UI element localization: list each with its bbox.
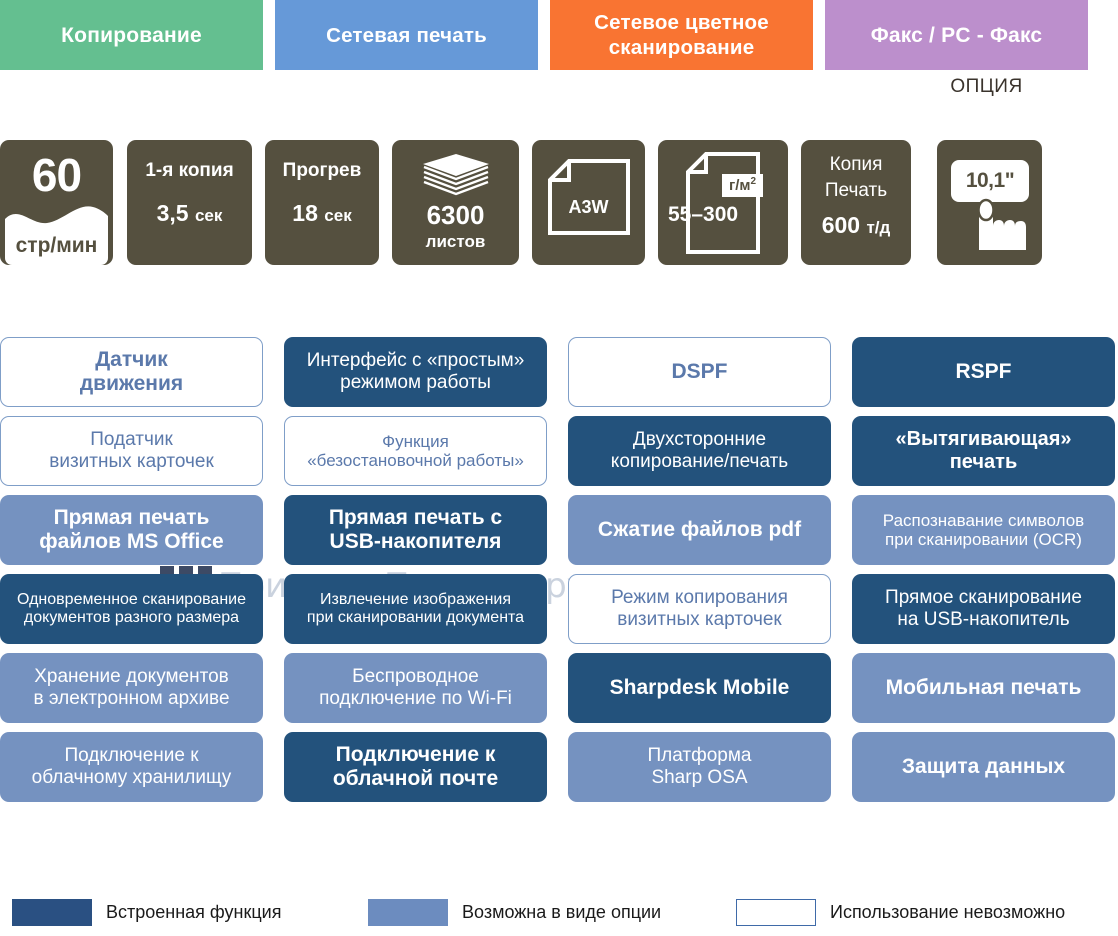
duty-number: 600 bbox=[822, 212, 860, 238]
warmup-value: 18 сек bbox=[265, 200, 379, 227]
feature-cell-label: Функция «безостановочной работы» bbox=[307, 432, 524, 471]
feature-cell[interactable]: Извлечение изображения при сканировании … bbox=[284, 574, 547, 644]
feature-cell-label: Распознавание символов при сканировании … bbox=[883, 511, 1084, 550]
feature-cell-label: RSPF bbox=[955, 360, 1011, 384]
feature-cell[interactable]: Платформа Sharp OSA bbox=[568, 732, 831, 802]
feature-cell[interactable]: Режим копирования визитных карточек bbox=[568, 574, 831, 644]
feature-cell-label: Датчик движения bbox=[80, 348, 183, 396]
feature-cell[interactable]: Защита данных bbox=[852, 732, 1115, 802]
feature-cell[interactable]: Одновременное сканирование документов ра… bbox=[0, 574, 263, 644]
feature-cell[interactable]: Прямая печать с USB-накопителя bbox=[284, 495, 547, 565]
feature-cell[interactable]: Податчик визитных карточек bbox=[0, 416, 263, 486]
speed-value: 60 bbox=[0, 148, 113, 202]
option-note: ОПЦИЯ bbox=[855, 76, 1118, 98]
paper-stack-icon bbox=[419, 152, 493, 203]
spec-tile-duty-cycle: Копия Печать 600 т/д bbox=[801, 140, 911, 265]
feature-cell[interactable]: Прямая печать файлов MS Office bbox=[0, 495, 263, 565]
feature-cell-label: Одновременное сканирование документов ра… bbox=[17, 591, 246, 627]
legend: Встроенная функция Возможна в виде опции… bbox=[0, 899, 1118, 933]
feature-cell[interactable]: Подключение к облачному хранилищу bbox=[0, 732, 263, 802]
header-copying: Копирование bbox=[0, 0, 263, 70]
spec-tile-speed: 60 стр/мин bbox=[0, 140, 113, 265]
header-network-print-label: Сетевая печать bbox=[326, 23, 487, 48]
legend-item-unavailable: Использование невозможно bbox=[736, 899, 1065, 926]
first-copy-unit: сек bbox=[195, 206, 222, 225]
feature-cell-label: Мобильная печать bbox=[886, 676, 1082, 700]
feature-cell-label: Платформа Sharp OSA bbox=[648, 745, 752, 788]
spec-tile-warmup: Прогрев 18 сек bbox=[265, 140, 379, 265]
paper-wave-icon: стр/мин bbox=[5, 203, 108, 265]
max-paper-value: A3W bbox=[532, 197, 645, 218]
feature-cell-label: Сжатие файлов pdf bbox=[598, 518, 801, 542]
feature-cell[interactable]: Хранение документов в электронном архиве bbox=[0, 653, 263, 723]
header-network-print: Сетевая печать bbox=[275, 0, 538, 70]
feature-cell-label: Прямое сканирование на USB-накопитель bbox=[885, 587, 1082, 630]
feature-cell[interactable]: «Вытягивающая» печать bbox=[852, 416, 1115, 486]
first-copy-title: 1-я копия bbox=[127, 160, 252, 182]
feature-cell-label: Интерфейс с «простым» режимом работы bbox=[307, 350, 525, 393]
header-fax: Факс / PC - Факс bbox=[825, 0, 1088, 70]
duty-line1: Копия bbox=[801, 154, 911, 176]
feature-cell[interactable]: Сжатие файлов pdf bbox=[568, 495, 831, 565]
feature-cell-label: Подключение к облачному хранилищу bbox=[32, 745, 232, 788]
feature-cell[interactable]: Мобильная печать bbox=[852, 653, 1115, 723]
legend-label-built-in: Встроенная функция bbox=[106, 902, 281, 923]
feature-cell-label: Прямая печать файлов MS Office bbox=[39, 506, 223, 554]
feature-cell-label: Податчик визитных карточек bbox=[49, 429, 214, 472]
duty-unit: т/д bbox=[866, 218, 890, 237]
capacity-value: 6300 bbox=[392, 200, 519, 231]
feature-cell[interactable]: Подключение к облачной почте bbox=[284, 732, 547, 802]
paper-weight-range: 55–300 bbox=[668, 203, 738, 227]
feature-cell[interactable]: Беспроводное подключение по Wi-Fi bbox=[284, 653, 547, 723]
duty-value: 600 т/д bbox=[801, 212, 911, 239]
header-network-color-scan-label: Сетевое цветное сканирование bbox=[556, 10, 807, 60]
spec-tiles-row: 60 стр/мин 1-я копия 3,5 сек Прогрев 18 … bbox=[0, 140, 1118, 265]
touchscreen-hand-icon bbox=[968, 192, 1030, 255]
legend-label-unavailable: Использование невозможно bbox=[830, 902, 1065, 923]
spec-tile-capacity: 6300 листов bbox=[392, 140, 519, 265]
feature-cell-label: Защита данных bbox=[902, 755, 1065, 779]
feature-cell[interactable]: Sharpdesk Mobile bbox=[568, 653, 831, 723]
feature-cell-label: «Вытягивающая» печать bbox=[895, 428, 1071, 474]
feature-cell[interactable]: RSPF bbox=[852, 337, 1115, 407]
speed-unit: стр/мин bbox=[5, 234, 108, 258]
spec-tile-first-copy: 1-я копия 3,5 сек bbox=[127, 140, 252, 265]
legend-item-option: Возможна в виде опции bbox=[368, 899, 661, 926]
feature-cell-label: Прямая печать с USB-накопителя bbox=[329, 506, 502, 554]
feature-cell-label: Sharpdesk Mobile bbox=[610, 676, 790, 700]
first-copy-number: 3,5 bbox=[157, 200, 189, 226]
warmup-number: 18 bbox=[292, 200, 318, 226]
legend-swatch-unavailable bbox=[736, 899, 816, 926]
feature-cell[interactable]: Датчик движения bbox=[0, 337, 263, 407]
first-copy-value: 3,5 сек bbox=[127, 200, 252, 227]
category-header-row: Копирование Сетевая печать Сетевое цветн… bbox=[0, 0, 1118, 70]
feature-cell-label: Подключение к облачной почте bbox=[333, 743, 498, 791]
capacity-unit: листов bbox=[392, 232, 519, 252]
feature-cell-label: Режим копирования визитных карточек bbox=[611, 587, 788, 630]
feature-cell[interactable]: DSPF bbox=[568, 337, 831, 407]
feature-grid: Датчик движенияИнтерфейс с «простым» реж… bbox=[0, 337, 1118, 802]
header-copying-label: Копирование bbox=[61, 23, 202, 48]
feature-cell-label: Хранение документов в электронном архиве bbox=[33, 666, 229, 709]
feature-cell[interactable]: Функция «безостановочной работы» bbox=[284, 416, 547, 486]
feature-cell[interactable]: Интерфейс с «простым» режимом работы bbox=[284, 337, 547, 407]
legend-label-option: Возможна в виде опции bbox=[462, 902, 661, 923]
feature-cell-label: Беспроводное подключение по Wi-Fi bbox=[319, 666, 512, 709]
spec-tile-panel: 10,1" bbox=[937, 140, 1042, 265]
feature-cell-label: Извлечение изображения при сканировании … bbox=[307, 591, 524, 627]
paper-weight-unit-sup: 2 bbox=[751, 176, 757, 187]
paper-weight-unit-text: г/м bbox=[729, 177, 751, 194]
feature-cell-label: Двухсторонние копирование/печать bbox=[611, 429, 788, 472]
feature-cell-label: DSPF bbox=[671, 360, 727, 384]
feature-matrix-page: Копирование Сетевая печать Сетевое цветн… bbox=[0, 0, 1118, 936]
header-network-color-scan: Сетевое цветное сканирование bbox=[550, 0, 813, 70]
legend-swatch-option bbox=[368, 899, 448, 926]
feature-cell[interactable]: Распознавание символов при сканировании … bbox=[852, 495, 1115, 565]
spec-tile-max-paper: A3W bbox=[532, 140, 645, 265]
feature-cell[interactable]: Прямое сканирование на USB-накопитель bbox=[852, 574, 1115, 644]
warmup-title: Прогрев bbox=[265, 160, 379, 182]
duty-line2: Печать bbox=[801, 180, 911, 202]
spec-tile-paper-weight: г/м2 55–300 bbox=[658, 140, 788, 265]
header-fax-label: Факс / PC - Факс bbox=[871, 23, 1043, 48]
feature-cell[interactable]: Двухсторонние копирование/печать bbox=[568, 416, 831, 486]
paper-weight-unit: г/м2 bbox=[722, 174, 763, 197]
warmup-unit: сек bbox=[324, 206, 351, 225]
legend-swatch-built-in bbox=[12, 899, 92, 926]
legend-item-built-in: Встроенная функция bbox=[12, 899, 281, 926]
